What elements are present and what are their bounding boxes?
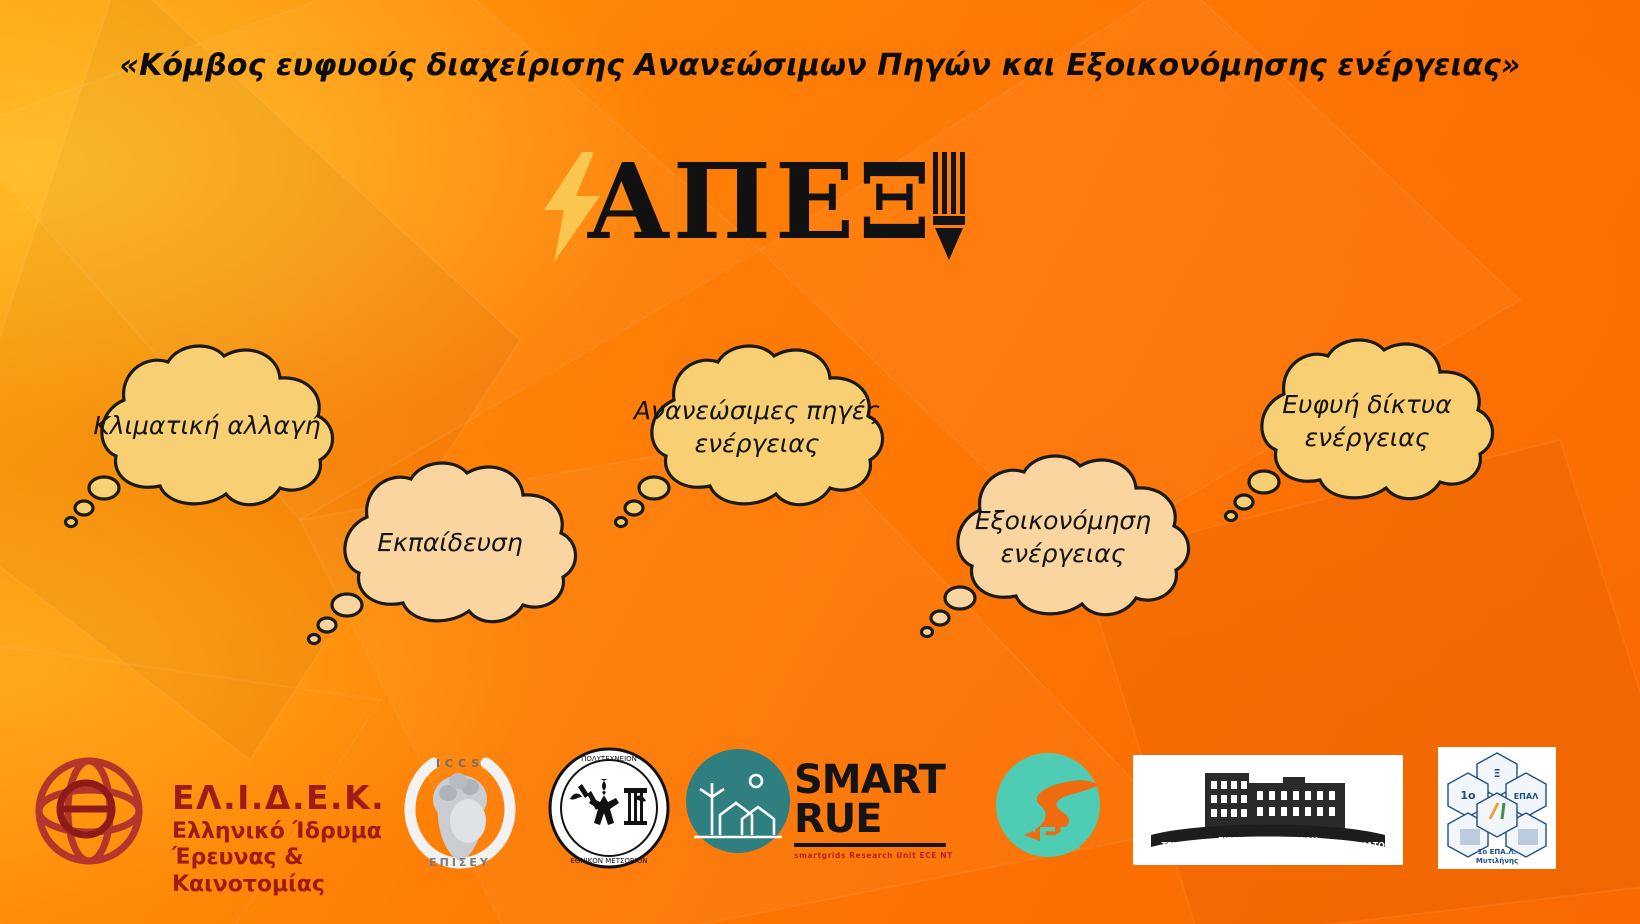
sivitanidios-ribbon-left: ΤΕΧΝΩΝ & bbox=[1161, 841, 1208, 850]
svg-text:1ο: 1ο bbox=[1460, 789, 1476, 802]
slide-canvas: «Κόμβος ευφυούς διαχείρισης Ανανεώσιμων … bbox=[0, 0, 1640, 924]
bubble-shape bbox=[612, 338, 902, 528]
apex-wordmark: ΑΠΕΞ bbox=[588, 142, 935, 262]
apex-logo: ΑΠΕΞ bbox=[526, 140, 996, 270]
bubble-shape bbox=[1222, 332, 1512, 522]
epal-caption-line2: Μυτιλήνης bbox=[1476, 857, 1518, 865]
thought-bubble-energy-saving: Εξοικονόμηση ενέργειας bbox=[918, 448, 1208, 638]
sivitanidios-ribbon-right: ΕΠΑΓΓΕΛΜΑΤΩΝ bbox=[1318, 841, 1391, 850]
smartrue-emblem-icon bbox=[686, 749, 790, 853]
cer-emblem-icon: CER bbox=[988, 749, 1108, 869]
elidek-text-block: ΕΛ.Ι.Δ.Ε.Κ. Ελληνικό Ίδρυμα Έρευνας & Κα… bbox=[172, 781, 404, 898]
elidek-subtitle-line1: Ελληνικό Ίδρυμα bbox=[172, 819, 404, 845]
logo-ntua: ΠΟΛΥΤΕΧΝΕΙΟΝ ΕΘΝΙΚΟΝ ΜΕΤΣΟΒΙΟΝ bbox=[548, 747, 670, 869]
sivitanidios-building-icon: ΤΕΧΝΩΝ & ΣΙΒΙΤΑΝΙΔΕΙΟΣ ΣΧΟΛΗ ΕΠΑΓΓΕΛΜΑΤΩ… bbox=[1133, 755, 1403, 865]
epal-hex-icon: Ξ 1ο ΕΠΑΛ 1ο ΕΠΑ.Λ. Μυτιλήνης bbox=[1438, 747, 1556, 869]
smartrue-text-block: SMART RUE smartgrids Research Unit ECE N… bbox=[794, 761, 953, 860]
smartrue-tagline: smartgrids Research Unit ECE NT bbox=[794, 851, 953, 860]
page-title: «Κόμβος ευφυούς διαχείρισης Ανανεώσιμων … bbox=[0, 48, 1640, 83]
logo-cer: CER bbox=[988, 749, 1108, 869]
elidek-acronym: ΕΛ.Ι.Δ.Ε.Κ. bbox=[172, 781, 404, 814]
elidek-subtitle-line2: Έρευνας & Καινοτομίας bbox=[172, 845, 404, 898]
pencil-icon bbox=[929, 152, 975, 262]
logo-sivitanidios: ΤΕΧΝΩΝ & ΣΙΒΙΤΑΝΙΔΕΙΟΣ ΣΧΟΛΗ ΕΠΑΓΓΕΛΜΑΤΩ… bbox=[1133, 755, 1403, 865]
ntua-seal-icon: ΠΟΛΥΤΕΧΝΕΙΟΝ ΕΘΝΙΚΟΝ ΜΕΤΣΟΒΙΟΝ bbox=[548, 747, 670, 869]
iccs-label: ICCS bbox=[398, 757, 522, 770]
logo-iccs-episeu: ICCS ΕΠΙΣΕΥ bbox=[398, 743, 522, 875]
svg-text:ΕΠΑΛ: ΕΠΑΛ bbox=[1514, 792, 1539, 801]
thought-bubble-education: Εκπαίδευση bbox=[305, 455, 595, 645]
epal-caption-line1: 1ο ΕΠΑ.Λ. bbox=[1478, 848, 1517, 856]
thought-bubble-smart-grids: Ευφυή δίκτυα ενέργειας bbox=[1222, 332, 1512, 522]
logo-elidek: ΕΛ.Ι.Δ.Ε.Κ. Ελληνικό Ίδρυμα Έρευνας & Κα… bbox=[24, 753, 404, 873]
svg-text:ΕΘΝΙΚΟΝ ΜΕΤΣΟΒΙΟΝ: ΕΘΝΙΚΟΝ ΜΕΤΣΟΒΙΟΝ bbox=[570, 857, 647, 865]
smartrue-line1: SMART bbox=[794, 761, 953, 800]
logo-epal-mytilene: Ξ 1ο ΕΠΑΛ 1ο ΕΠΑ.Λ. Μυτιλήνης bbox=[1438, 747, 1556, 869]
smartrue-divider bbox=[794, 843, 946, 847]
partner-logo-strip: ΕΛ.Ι.Δ.Ε.Κ. Ελληνικό Ίδρυμα Έρευνας & Κα… bbox=[0, 735, 1640, 895]
svg-text:Ξ: Ξ bbox=[1494, 767, 1501, 780]
svg-text:CER: CER bbox=[1015, 822, 1081, 857]
elidek-emblem-icon bbox=[24, 753, 154, 871]
episeu-label: ΕΠΙΣΕΥ bbox=[398, 856, 522, 869]
svg-text:ΠΟΛΥΤΕΧΝΕΙΟΝ: ΠΟΛΥΤΕΧΝΕΙΟΝ bbox=[581, 755, 637, 763]
logo-smartrue: SMART RUE smartgrids Research Unit ECE N… bbox=[686, 749, 956, 869]
bubble-shape bbox=[305, 455, 595, 645]
thought-bubble-renewables: Ανανεώσιμες πηγές ενέργειας bbox=[612, 338, 902, 528]
sivitanidios-ribbon-center: ΣΙΒΙΤΑΝΙΔΕΙΟΣ ΣΧΟΛΗ bbox=[1218, 836, 1318, 845]
bubble-shape bbox=[918, 448, 1208, 638]
smartrue-line2: RUE bbox=[794, 800, 953, 839]
